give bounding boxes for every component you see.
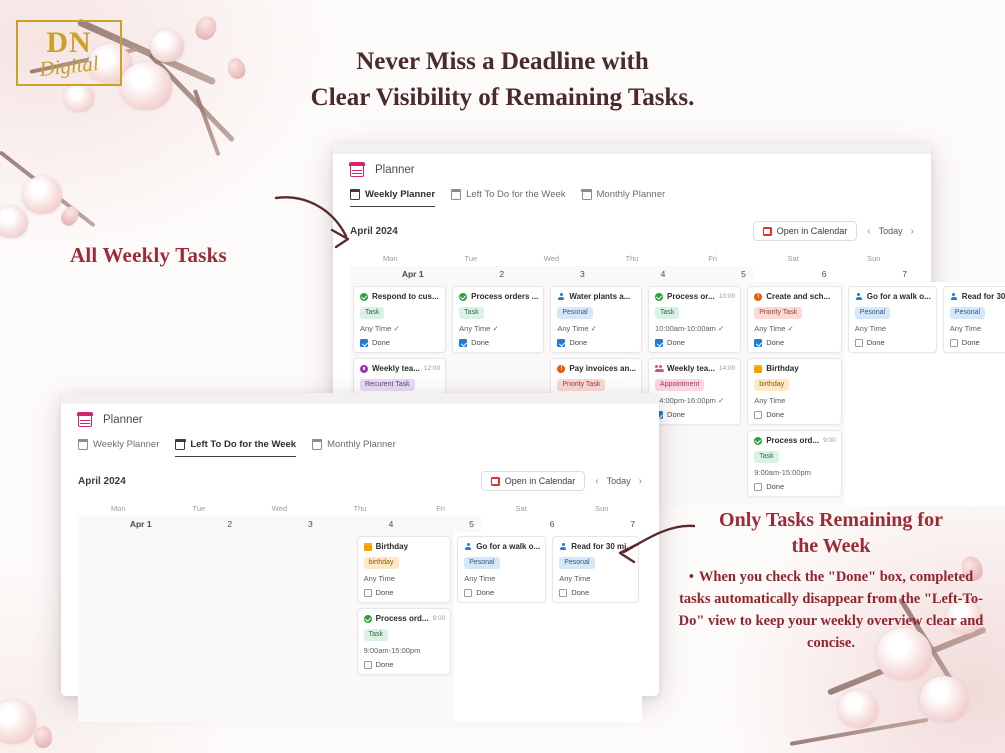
weekday-label: Sun (833, 251, 914, 266)
alert-icon (557, 365, 565, 373)
task-done-row[interactable]: Done (655, 410, 735, 419)
task-tag: birthday (754, 379, 789, 391)
annotation-remaining-tasks: Only Tasks Remaining for the Week •When … (672, 508, 990, 654)
task-title: Create and sch... (766, 292, 836, 301)
date-cell[interactable]: 5 (400, 516, 481, 532)
tab-label: Weekly Planner (93, 439, 159, 450)
date-cell[interactable]: 6 (753, 266, 834, 282)
task-schedule: Any Time (855, 324, 931, 333)
weekday-label: Wed (511, 251, 592, 266)
planner-calendar-icon (350, 163, 364, 177)
day-column[interactable]: Process or...10:00Task10:00am-10:00am ✓D… (645, 282, 744, 506)
calendar-icon (312, 440, 322, 450)
weekday-label: Thu (592, 251, 673, 266)
task-tag: Task (364, 629, 388, 641)
done-checkbox[interactable] (754, 411, 762, 419)
weekday-header-row: MonTueWedThuFriSatSun (78, 501, 642, 516)
task-schedule: Any Time (950, 324, 1005, 333)
done-checkbox[interactable] (950, 339, 958, 347)
task-card-header: Weekly tea...12:00 (360, 364, 440, 373)
date-cell[interactable]: 3 (511, 266, 592, 282)
day-column[interactable]: Go for a walk o...PesonalAny TimeDone (454, 532, 549, 722)
planner-calendar-icon (78, 413, 92, 427)
done-checkbox[interactable] (559, 589, 567, 597)
date-cell[interactable]: 6 (481, 516, 562, 532)
gift-icon (754, 365, 762, 373)
weekday-label: Thu (320, 501, 401, 516)
person-icon (855, 293, 863, 301)
task-card[interactable]: Respond to cus...TaskAny Time ✓Done (353, 286, 446, 353)
weekday-header-row: MonTueWedThuFriSatSun (350, 251, 914, 266)
task-title: Process or... (667, 292, 715, 301)
done-checkbox[interactable] (754, 339, 762, 347)
date-cell[interactable]: 5 (672, 266, 753, 282)
task-title: Weekly tea... (667, 364, 715, 373)
check-circle-icon (655, 293, 663, 301)
task-card-header: Process orders ... (459, 292, 538, 301)
check-circle-icon (364, 615, 372, 623)
task-schedule: 14:00pm-16:00pm ✓ (655, 396, 735, 405)
task-tag: Pesonal (855, 307, 890, 319)
day-column[interactable]: Go for a walk o...PesonalAny TimeDone (845, 282, 940, 506)
weekday-label: Sat (753, 251, 834, 266)
today-button[interactable]: Today (607, 476, 631, 486)
task-card[interactable]: BirthdaybirthdayAny TimeDone (357, 536, 452, 603)
task-tag: Task (754, 451, 778, 463)
week-grid: BirthdaybirthdayAny TimeDoneProcess ord.… (78, 532, 642, 722)
day-column[interactable]: Read for 30 mi...PesonalAny TimeDone (940, 282, 1005, 506)
task-card[interactable]: Process or...10:00Task10:00am-10:00am ✓D… (648, 286, 741, 353)
calendar-icon (491, 477, 500, 486)
open-in-calendar-button[interactable]: Open in Calendar (481, 471, 586, 491)
month-label: April 2024 (78, 476, 126, 487)
task-done-row[interactable]: Done (754, 482, 836, 491)
task-card-header: Process ord...9:00 (754, 436, 836, 445)
done-checkbox[interactable] (855, 339, 863, 347)
app-header: Planner (350, 163, 914, 177)
task-card-header: Process ord...9:00 (364, 614, 446, 623)
task-tag: Pesonal (559, 557, 594, 569)
app-title: Planner (103, 414, 143, 426)
done-label: Done (667, 338, 685, 347)
task-tag: birthday (364, 557, 399, 569)
month-toolbar: April 2024 Open in Calendar ‹ Today › (350, 221, 914, 241)
tab-left-to-do[interactable]: Left To Do for the Week (175, 439, 296, 457)
task-schedule: 9:00am-15:00pm (364, 646, 446, 655)
task-title: Go for a walk o... (476, 542, 540, 551)
calendar-icon (78, 440, 88, 450)
date-navigation: ‹ Today › (595, 476, 642, 487)
task-tag: Appointment (655, 379, 704, 391)
task-card-header: Weekly tea...14:00 (655, 364, 735, 373)
task-schedule: Any Time ✓ (360, 324, 440, 333)
task-done-row[interactable]: Done (855, 338, 931, 347)
annotation-all-weekly-tasks: All Weekly Tasks (70, 243, 227, 268)
task-card[interactable]: Process ord...9:00Task9:00am-15:00pmDone (357, 608, 452, 675)
done-label: Done (962, 338, 980, 347)
annotation-body-text: When you check the "Done" box, completed… (679, 569, 984, 651)
date-header-row: Apr 1234567 (350, 266, 914, 282)
task-title: Pay invoices an... (569, 364, 636, 373)
app-header: Planner (78, 413, 642, 427)
task-card-header: Birthday (754, 364, 836, 373)
task-card-header: Go for a walk o... (464, 542, 540, 551)
task-card-header: Read for 30 mi... (950, 292, 1005, 301)
tab-bar: Weekly Planner Left To Do for the Week M… (78, 439, 642, 457)
task-done-row[interactable]: Done (464, 588, 540, 597)
calendar-controls: Open in Calendar ‹ Today › (753, 221, 914, 241)
task-time-badge: 12:00 (424, 365, 440, 372)
recur-icon (360, 365, 368, 373)
task-card[interactable]: Process ord...9:00Task9:00am-15:00pmDone (747, 430, 842, 497)
gift-icon (364, 543, 372, 551)
person-icon (557, 293, 565, 301)
task-card[interactable]: Process orders ...TaskAny Time ✓Done (452, 286, 544, 353)
people-icon (655, 365, 663, 373)
task-card[interactable]: Weekly tea...14:00Appointment14:00pm-16:… (648, 358, 741, 425)
prev-week-icon[interactable]: ‹ (595, 476, 598, 487)
tab-monthly-planner[interactable]: Monthly Planner (312, 439, 396, 457)
app-title: Planner (375, 164, 415, 176)
calendar-controls: Open in Calendar ‹ Today › (481, 471, 642, 491)
tab-label: Left To Do for the Week (190, 439, 296, 450)
tab-monthly-planner[interactable]: Monthly Planner (582, 189, 666, 207)
person-icon (464, 543, 472, 551)
month-toolbar: April 2024 Open in Calendar ‹ Today › (78, 471, 642, 491)
task-card[interactable]: Go for a walk o...PesonalAny TimeDone (848, 286, 937, 353)
task-tag: Task (655, 307, 679, 319)
task-done-row[interactable]: Done (459, 338, 538, 347)
done-label: Done (571, 588, 589, 597)
done-label: Done (476, 588, 494, 597)
headline-line-1: Never Miss a Deadline with (0, 44, 1005, 80)
task-title: Process ord... (376, 614, 429, 623)
task-title: Water plants a... (569, 292, 636, 301)
task-title: Read for 30 mi... (962, 292, 1005, 301)
day-column[interactable] (78, 532, 147, 722)
weekday-label: Sat (481, 501, 562, 516)
task-tag: Pesonal (464, 557, 499, 569)
task-time-badge: 9:00 (823, 437, 836, 444)
done-label: Done (766, 410, 784, 419)
task-done-row[interactable]: Done (364, 660, 446, 669)
date-cell[interactable]: 2 (431, 266, 512, 282)
open-in-calendar-label: Open in Calendar (777, 226, 848, 236)
person-icon (559, 543, 567, 551)
date-cell[interactable]: 7 (833, 266, 914, 282)
tab-label: Monthly Planner (327, 439, 396, 450)
date-navigation: ‹ Today › (867, 226, 914, 237)
done-checkbox[interactable] (557, 339, 565, 347)
done-label: Done (667, 410, 685, 419)
window-titlebar (61, 393, 659, 404)
task-done-row[interactable]: Done (950, 338, 1005, 347)
task-card[interactable]: Go for a walk o...PesonalAny TimeDone (457, 536, 546, 603)
weekday-label: Tue (431, 251, 512, 266)
calendar-icon (763, 227, 772, 236)
task-card-header: Birthday (364, 542, 446, 551)
task-card-header: Create and sch... (754, 292, 836, 301)
task-done-row[interactable]: Done (754, 410, 836, 419)
task-card[interactable]: BirthdaybirthdayAny TimeDone (747, 358, 842, 425)
day-column[interactable] (285, 532, 354, 722)
task-done-row[interactable]: Done (559, 588, 633, 597)
done-label: Done (372, 338, 390, 347)
arrow-left-annotation (270, 190, 360, 260)
task-done-row[interactable]: Done (655, 338, 735, 347)
day-column[interactable] (216, 532, 285, 722)
task-tag: Task (360, 307, 384, 319)
date-cell[interactable]: 4 (592, 266, 673, 282)
task-tag: Priority Task (754, 307, 802, 319)
task-card-header: Pay invoices an... (557, 364, 636, 373)
tab-left-to-do[interactable]: Left To Do for the Week (451, 189, 565, 207)
tab-weekly-planner[interactable]: Weekly Planner (350, 189, 435, 207)
prev-week-icon[interactable]: ‹ (867, 226, 870, 237)
done-checkbox[interactable] (464, 589, 472, 597)
task-schedule: 10:00am-10:00am ✓ (655, 324, 735, 333)
person-icon (950, 293, 958, 301)
done-checkbox[interactable] (754, 483, 762, 491)
task-card-header: Go for a walk o... (855, 292, 931, 301)
task-card-header: Water plants a... (557, 292, 636, 301)
date-cell[interactable]: Apr 1 (350, 266, 431, 282)
task-tag: Pesonal (950, 307, 985, 319)
task-tag: Recurent Task (360, 379, 415, 391)
brand-logo: DN Digital (16, 20, 122, 86)
done-label: Done (867, 338, 885, 347)
weekday-label: Fri (400, 501, 481, 516)
task-schedule: Any Time (364, 574, 446, 583)
check-circle-icon (459, 293, 467, 301)
tab-label: Left To Do for the Week (466, 189, 565, 200)
task-time-badge: 9:00 (433, 615, 446, 622)
arrow-right-annotation (608, 518, 700, 578)
page-headline: Never Miss a Deadline with Clear Visibil… (0, 44, 1005, 115)
headline-line-2: Clear Visibility of Remaining Tasks. (0, 80, 1005, 116)
task-time-badge: 10:00 (719, 293, 735, 300)
task-card[interactable]: Read for 30 mi...PesonalAny TimeDone (943, 286, 1005, 353)
task-done-row[interactable]: Done (557, 338, 636, 347)
task-title: Go for a walk o... (867, 292, 931, 301)
task-tag: Priority Task (557, 379, 605, 391)
open-in-calendar-label: Open in Calendar (505, 476, 576, 486)
alert-icon (754, 293, 762, 301)
task-done-row[interactable]: Done (364, 588, 446, 597)
task-schedule: Any Time ✓ (459, 324, 538, 333)
tab-weekly-planner[interactable]: Weekly Planner (78, 439, 159, 457)
done-label: Done (376, 660, 394, 669)
day-column[interactable]: BirthdaybirthdayAny TimeDoneProcess ord.… (354, 532, 455, 722)
task-done-row[interactable]: Done (360, 338, 440, 347)
tab-label: Monthly Planner (597, 189, 666, 200)
date-cell[interactable]: 4 (320, 516, 401, 532)
date-cell[interactable]: Apr 1 (78, 516, 159, 532)
weekday-label: Mon (350, 251, 431, 266)
next-week-icon[interactable]: › (911, 226, 914, 237)
done-checkbox[interactable] (360, 339, 368, 347)
task-done-row[interactable]: Done (754, 338, 836, 347)
tab-label: Weekly Planner (365, 189, 435, 200)
window-titlebar (333, 143, 931, 154)
done-label: Done (569, 338, 587, 347)
task-card[interactable]: Create and sch...Priority TaskAny Time ✓… (747, 286, 842, 353)
calendar-icon (451, 190, 461, 200)
calendar-icon (175, 440, 185, 450)
day-column[interactable]: Create and sch...Priority TaskAny Time ✓… (744, 282, 845, 506)
task-schedule: Any Time (464, 574, 540, 583)
weekday-label: Sun (561, 501, 642, 516)
task-card[interactable]: Water plants a...PesonalAny Time ✓Done (550, 286, 642, 353)
annotation-title-line-1: Only Tasks Remaining for (672, 508, 990, 534)
task-card-header: Respond to cus... (360, 292, 440, 301)
calendar-icon (582, 190, 592, 200)
done-label: Done (376, 588, 394, 597)
planner-window-lefttodo: Planner Weekly Planner Left To Do for th… (61, 393, 659, 696)
next-week-icon[interactable]: › (639, 476, 642, 487)
weekday-label: Wed (239, 501, 320, 516)
date-cell[interactable]: 2 (159, 516, 240, 532)
weekday-label: Fri (672, 251, 753, 266)
done-label: Done (766, 482, 784, 491)
check-circle-icon (360, 293, 368, 301)
task-title: Birthday (766, 364, 836, 373)
task-title: Weekly tea... (372, 364, 420, 373)
task-schedule: Any Time ✓ (557, 324, 636, 333)
done-label: Done (766, 338, 784, 347)
done-checkbox[interactable] (364, 661, 372, 669)
task-title: Respond to cus... (372, 292, 440, 301)
task-schedule: 9:00am-15:00pm (754, 468, 836, 477)
tab-bar: Weekly Planner Left To Do for the Week M… (350, 189, 914, 207)
check-circle-icon (754, 437, 762, 445)
day-column[interactable] (147, 532, 216, 722)
today-button[interactable]: Today (879, 226, 903, 236)
date-header-row: Apr 1234567 (78, 516, 642, 532)
task-schedule: Any Time (754, 396, 836, 405)
task-card-header: Process or...10:00 (655, 292, 735, 301)
task-time-badge: 14:00 (719, 365, 735, 372)
task-title: Process ord... (766, 436, 819, 445)
annotation-body: •When you check the "Done" box, complete… (672, 566, 990, 654)
annotation-title-line-2: the Week (672, 534, 990, 560)
task-schedule: Any Time ✓ (754, 324, 836, 333)
done-label: Done (471, 338, 489, 347)
date-cell[interactable]: 3 (239, 516, 320, 532)
weekday-label: Tue (159, 501, 240, 516)
task-tag: Task (459, 307, 483, 319)
done-checkbox[interactable] (364, 589, 372, 597)
done-checkbox[interactable] (655, 339, 663, 347)
done-checkbox[interactable] (459, 339, 467, 347)
task-title: Birthday (376, 542, 446, 551)
weekday-label: Mon (78, 501, 159, 516)
open-in-calendar-button[interactable]: Open in Calendar (753, 221, 858, 241)
task-title: Process orders ... (471, 292, 538, 301)
task-tag: Pesonal (557, 307, 592, 319)
